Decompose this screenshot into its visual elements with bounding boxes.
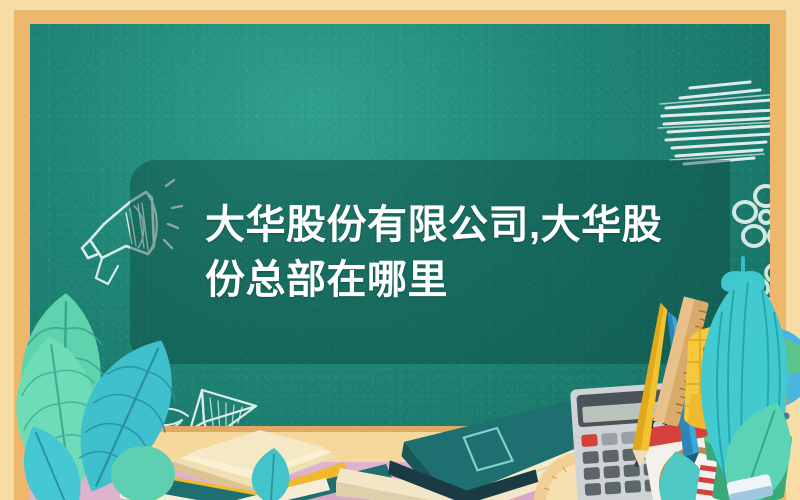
leaf-illustration	[108, 440, 178, 500]
page-title: 大华股份有限公司,大华股份总部在哪里	[205, 198, 675, 308]
book-illustration	[397, 445, 520, 500]
leaf-illustration	[228, 446, 318, 500]
striped-item-illustration	[687, 458, 727, 500]
banner-image: 大华股份有限公司,大华股份总部在哪里	[0, 0, 800, 500]
